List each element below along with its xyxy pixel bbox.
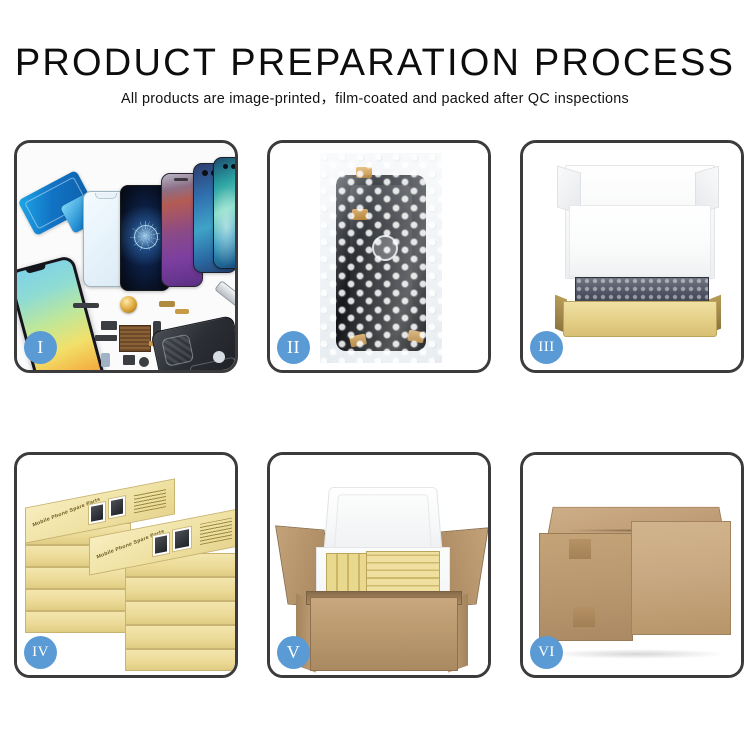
retail-box-edge xyxy=(25,589,131,611)
spare-part-image xyxy=(95,335,117,341)
carton-tape-patch-bottom xyxy=(573,607,595,627)
step-badge-1: I xyxy=(24,331,57,364)
spare-part-image xyxy=(101,321,117,330)
page-header: PRODUCT PREPARATION PROCESS All products… xyxy=(0,0,750,130)
spare-part-image xyxy=(73,303,99,308)
step-panel-retail-box-stack: Mobile Phone Spare Parts Mobile Phone Sp… xyxy=(14,452,238,678)
retail-box-swatch xyxy=(152,532,170,557)
carton-drop-shadow xyxy=(547,649,727,659)
punch-hole-camera-icon xyxy=(202,170,208,176)
step-badge-2: II xyxy=(277,331,310,364)
phone-teal-image xyxy=(213,157,238,269)
logic-board-chip-image xyxy=(119,325,151,352)
page-title: PRODUCT PREPARATION PROCESS xyxy=(0,41,750,85)
kraft-box-open-image xyxy=(553,161,723,351)
step-badge-6: VI xyxy=(530,636,563,669)
step-badge-4: IV xyxy=(24,636,57,669)
retail-box-stack-image: Mobile Phone Spare Parts Mobile Phone Sp… xyxy=(25,479,237,667)
pry-tool-image xyxy=(214,280,238,318)
spare-part-image xyxy=(101,353,110,367)
spare-part-image xyxy=(123,355,135,365)
step-panel-carton-loading: V xyxy=(267,452,491,678)
carton-front-face xyxy=(310,597,458,671)
retail-box-edge xyxy=(125,601,238,625)
plastic-sheen-overlay xyxy=(320,153,442,363)
step-panel-inner-box-packing: III xyxy=(520,140,744,373)
foam-sheet-image xyxy=(569,205,711,277)
step-badge-3: III xyxy=(530,331,563,364)
punch-hole-camera-icon xyxy=(223,164,228,169)
sealed-carton-image xyxy=(537,483,733,653)
carton-tape-patch-top xyxy=(569,539,591,559)
page-subtitle: All products are image-printed，film-coat… xyxy=(0,90,750,108)
speaker-part-image xyxy=(139,357,149,367)
spare-part-image xyxy=(159,301,175,307)
step-badge-5: V xyxy=(277,636,310,669)
plasma-ring-graphic xyxy=(134,225,158,249)
step-panel-sealed-carton: VI xyxy=(520,452,744,678)
screw-part-image xyxy=(213,351,225,363)
retail-box-swatch xyxy=(172,526,192,553)
back-housing-image xyxy=(150,315,238,373)
box-tray-front xyxy=(563,301,717,337)
retail-box-edge xyxy=(25,611,131,633)
retail-box-edge xyxy=(125,625,238,649)
carton-right-face xyxy=(631,521,731,635)
step-panel-bubble-wrap-packing: II xyxy=(267,140,491,373)
bubble-wrap-bag-image xyxy=(320,153,442,363)
open-carton-image xyxy=(282,469,482,669)
step-panel-product-assortment: I xyxy=(14,140,238,373)
retail-box-swatch xyxy=(108,495,126,519)
camera-module-part-image xyxy=(120,296,137,313)
spare-part-image xyxy=(175,309,189,314)
retail-box-edge xyxy=(125,577,238,601)
retail-box-edge xyxy=(125,649,238,671)
retail-box-swatch xyxy=(88,501,106,525)
